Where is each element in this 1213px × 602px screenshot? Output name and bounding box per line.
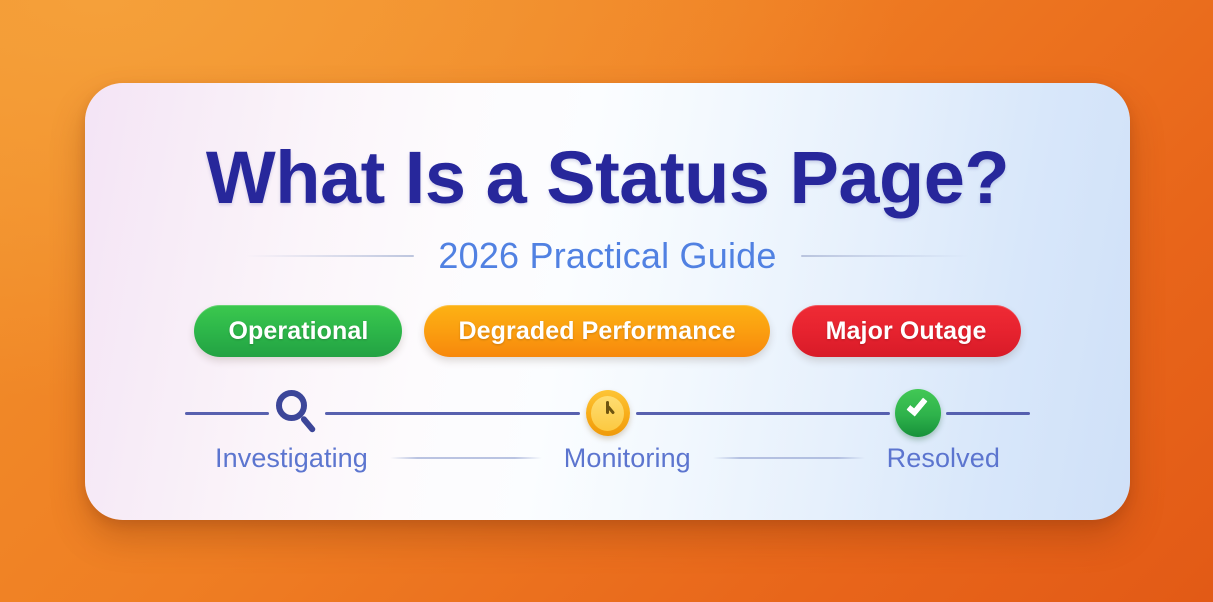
status-badge-degraded-performance[interactable]: Degraded Performance (424, 305, 769, 357)
status-page-card: What Is a Status Page? 2026 Practical Gu… (85, 83, 1130, 520)
timeline-label-monitoring: Monitoring (564, 443, 691, 474)
status-badge-major-outage[interactable]: Major Outage (792, 305, 1021, 357)
timeline-label-investigating: Investigating (215, 443, 368, 474)
timeline-connector-1 (325, 412, 580, 415)
infographic-canvas: What Is a Status Page? 2026 Practical Gu… (0, 0, 1213, 602)
page-title: What Is a Status Page? (85, 135, 1130, 220)
incident-timeline (185, 395, 1030, 431)
magnifying-glass-icon (274, 390, 320, 436)
timeline-label-resolved: Resolved (887, 443, 1000, 474)
page-subtitle: 2026 Practical Guide (438, 235, 776, 277)
subtitle-rule-right (801, 255, 969, 257)
timeline-connector-2 (636, 412, 891, 415)
status-badge-operational[interactable]: Operational (194, 305, 402, 357)
clock-face (591, 396, 624, 431)
magnifier-handle (300, 415, 317, 433)
subtitle-rule-left (246, 255, 414, 257)
timeline-connector-end (946, 412, 1030, 415)
clock-icon (586, 390, 630, 436)
check-circle-icon (895, 389, 941, 437)
timeline-node-investigating[interactable] (269, 385, 325, 441)
timeline-label-row: Investigating Monitoring Resolved (215, 441, 1000, 475)
timeline-connector-start (185, 412, 269, 415)
timeline-label-connector-1 (390, 457, 542, 459)
timeline-node-resolved[interactable] (890, 385, 946, 441)
subtitle-row: 2026 Practical Guide (85, 235, 1130, 277)
timeline-label-connector-2 (713, 457, 865, 459)
status-badge-group: Operational Degraded Performance Major O… (85, 305, 1130, 357)
timeline-node-monitoring[interactable] (580, 385, 636, 441)
check-mark (906, 394, 927, 416)
